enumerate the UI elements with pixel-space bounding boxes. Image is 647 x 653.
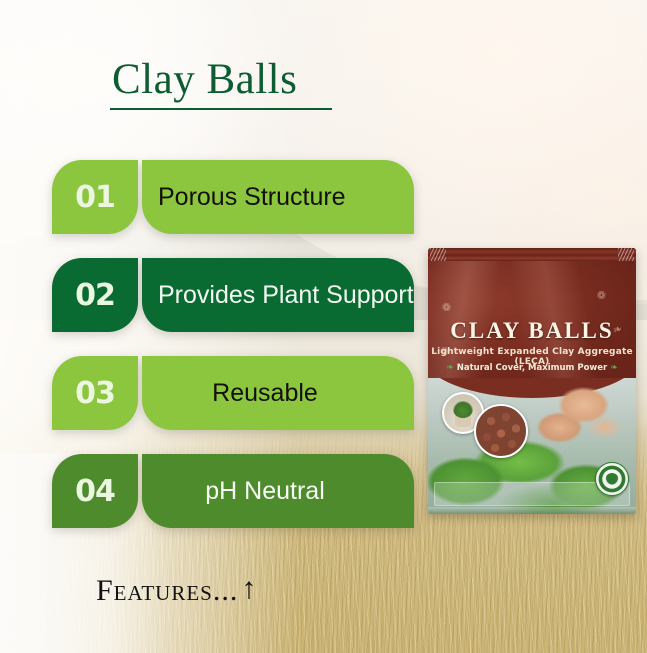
package-tagline-row: ❧ Natural Cover, Maximum Power ❧ <box>428 363 636 373</box>
features-caption-text: Features... <box>96 574 238 608</box>
inset-clay-balls-image <box>474 404 528 458</box>
page-title: Clay Balls <box>112 58 297 101</box>
feature-row: 02 Provides Plant Support <box>52 258 414 332</box>
feature-label: Reusable <box>142 356 414 430</box>
features-caption: Features... ↑ <box>96 572 257 608</box>
poster-canvas: Clay Balls 01 Porous Structure 02 Provid… <box>0 0 647 653</box>
product-package: ❁ ❁ ❁ ❧ CLAY BALLS Lightweight Expanded … <box>428 248 636 514</box>
photo-hands <box>526 384 622 454</box>
feature-number-badge: 02 <box>52 258 138 332</box>
title-underline <box>110 108 332 110</box>
feature-number-badge: 04 <box>52 454 138 528</box>
brand-logo-badge <box>595 462 629 496</box>
feature-row: 01 Porous Structure <box>52 160 414 234</box>
feature-list: 01 Porous Structure 02 Provides Plant Su… <box>52 160 414 552</box>
package-title: CLAY BALLS <box>428 318 636 344</box>
leaf-icon-left: ❧ <box>446 363 454 373</box>
feature-row: 04 pH Neutral <box>52 454 414 528</box>
feature-row: 03 Reusable <box>52 356 414 430</box>
up-arrow-icon: ↑ <box>241 572 257 606</box>
feature-label: pH Neutral <box>142 454 414 528</box>
package-bottom-seal <box>428 507 636 514</box>
feature-label: Provides Plant Support <box>142 258 414 332</box>
feature-number-badge: 01 <box>52 160 138 234</box>
package-front-face: ❁ ❁ ❁ ❧ CLAY BALLS Lightweight Expanded … <box>428 261 636 397</box>
feature-label: Porous Structure <box>142 160 414 234</box>
package-tagline: Natural Cover, Maximum Power <box>457 363 607 373</box>
leaf-icon-right: ❧ <box>610 363 618 373</box>
feature-number-badge: 03 <box>52 356 138 430</box>
package-top-seal <box>428 248 636 261</box>
package-photo <box>428 378 636 514</box>
